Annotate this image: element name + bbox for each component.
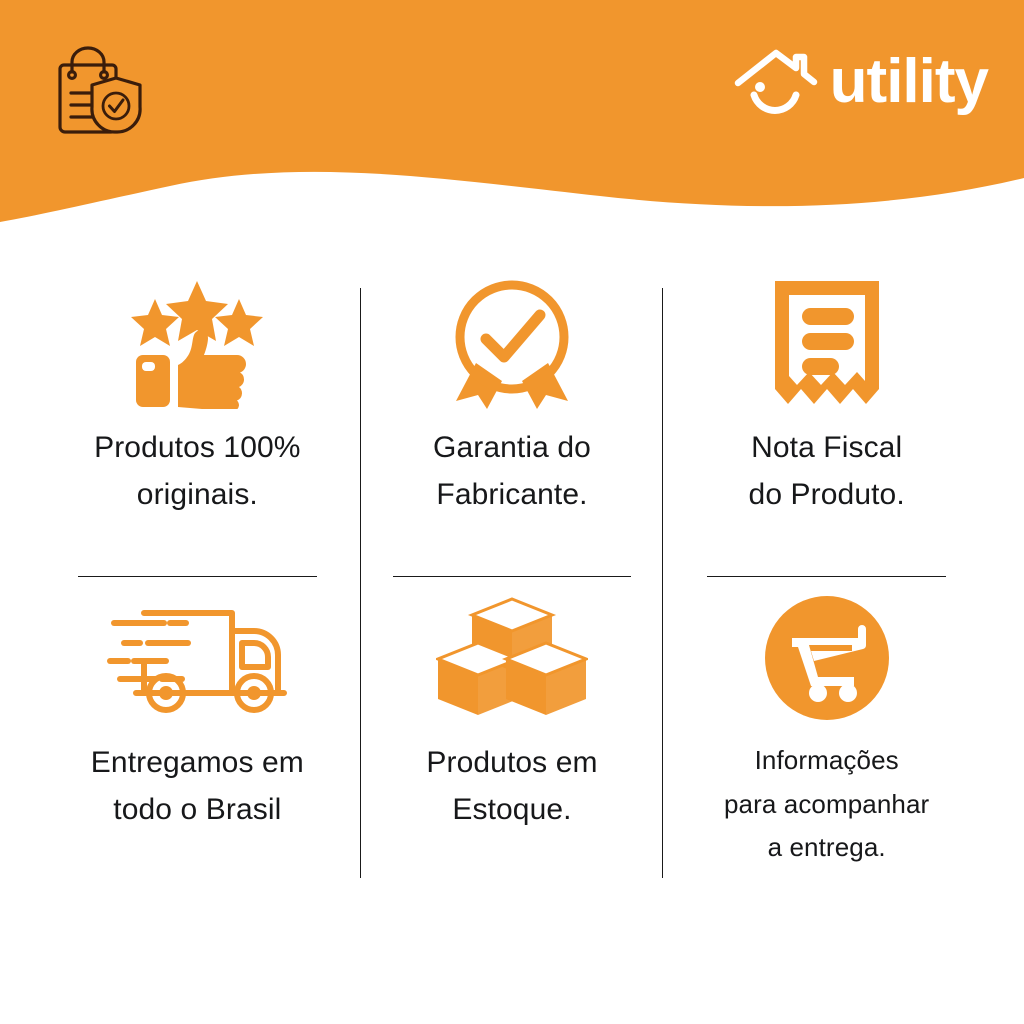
feature-item-garantia-fabricante[interactable]: Garantia do Fabricante. [355,262,670,577]
shopping-bag-shield-icon [48,44,144,136]
feature-grid: Produtos 100% originais. Garantia do Fab… [40,262,984,892]
brand-logo[interactable]: utility [734,44,988,126]
feature-label: Garantia do Fabricante. [433,424,591,519]
feature-label: Informações para acompanhar a entrega. [724,739,929,870]
feature-label: Nota Fiscal do Produto. [749,424,905,519]
shopping-cart-circle-icon [762,583,892,733]
receipt-invoice-icon [769,268,885,418]
feature-item-entrega-brasil[interactable]: Entregamos em todo o Brasil [40,577,355,892]
feature-item-nota-fiscal[interactable]: Nota Fiscal do Produto. [669,262,984,577]
feature-item-produtos-estoque[interactable]: Produtos em Estoque. [355,577,670,892]
feature-label: Entregamos em todo o Brasil [91,739,304,834]
promo-banner-page: utility Produtos 100% origina [0,0,1024,1024]
quality-badge-check-icon [442,268,582,418]
feature-label: Produtos 100% originais. [94,424,300,519]
brand-name: utility [830,51,988,119]
stacked-boxes-icon [436,583,588,733]
header-banner: utility [0,0,1024,230]
delivery-truck-icon [102,583,292,733]
feature-label: Produtos em Estoque. [426,739,597,834]
feature-item-produtos-originais[interactable]: Produtos 100% originais. [40,262,355,577]
house-smile-icon [734,47,820,123]
thumbs-up-stars-icon [122,268,272,418]
feature-item-acompanhar-entrega[interactable]: Informações para acompanhar a entrega. [669,577,984,892]
